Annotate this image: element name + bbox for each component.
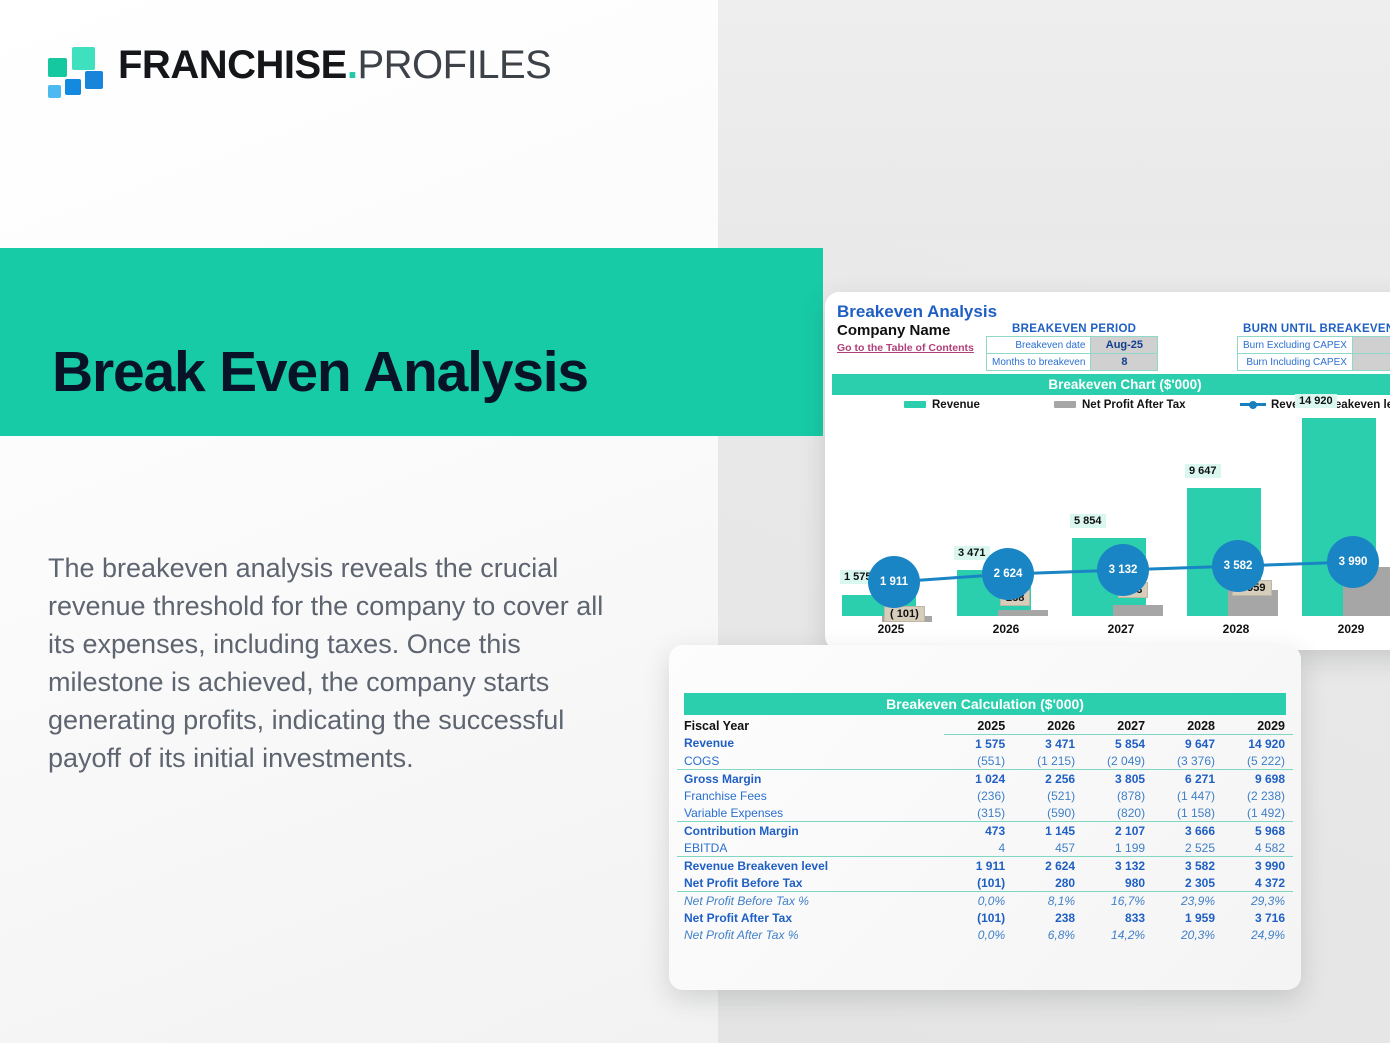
background-panel-top-right: [718, 0, 1390, 240]
cell: (590): [1013, 804, 1083, 822]
column-header-2025: 2025: [944, 717, 1013, 735]
cell: 3 990: [1223, 857, 1293, 875]
cell: 2 525: [1153, 839, 1223, 857]
table-row: Franchise Fees (236) (521) (878) (1 447)…: [677, 787, 1293, 804]
cell: 833: [1083, 909, 1153, 926]
hero-description: The breakeven analysis reveals the cruci…: [48, 549, 628, 777]
cell: 1 199: [1083, 839, 1153, 857]
cell: (315): [944, 804, 1013, 822]
cell: 14,2%: [1083, 926, 1153, 943]
cell: (820): [1083, 804, 1153, 822]
row-label: COGS: [677, 752, 944, 770]
table-header-row: Fiscal Year 2025 2026 2027 2028 2029: [677, 717, 1293, 735]
cell: 9 698: [1223, 770, 1293, 788]
cell: 3 471: [1013, 735, 1083, 753]
breakeven-date-label: Breakeven date: [987, 337, 1091, 354]
table-row: Burn Excluding CAPEX: [1238, 337, 1390, 354]
cell: 29,3%: [1223, 892, 1293, 910]
row-label: Net Profit After Tax %: [677, 926, 944, 943]
cell: 3 132: [1083, 857, 1153, 875]
legend-swatch-net-profit-after-tax: [1054, 401, 1076, 408]
x-tick-2028: 2028: [1199, 622, 1273, 636]
cell: 1 024: [944, 770, 1013, 788]
chart-title: Breakeven Chart ($'000): [832, 374, 1390, 395]
cell: 6,8%: [1013, 926, 1083, 943]
cell: 3 666: [1153, 822, 1223, 840]
cell: 2 624: [1013, 857, 1083, 875]
table-row: Burn Including CAPEX: [1238, 354, 1390, 371]
cell: 5 854: [1083, 735, 1153, 753]
burn-excluding-capex-value[interactable]: [1352, 337, 1390, 354]
cell: 457: [1013, 839, 1083, 857]
table-row: Months to breakeven 8: [987, 354, 1158, 371]
burn-including-capex-label: Burn Including CAPEX: [1238, 354, 1353, 371]
cell: 9 647: [1153, 735, 1223, 753]
table-row: Contribution Margin 473 1 145 2 107 3 66…: [677, 822, 1293, 840]
cell: 1 959: [1153, 909, 1223, 926]
column-header-2028: 2028: [1153, 717, 1223, 735]
row-label: Revenue Breakeven level: [677, 857, 944, 875]
point-breakeven-2027[interactable]: 3 132: [1097, 544, 1149, 596]
burn-excluding-capex-label: Burn Excluding CAPEX: [1238, 337, 1353, 354]
burn-until-breakeven-table: Burn Excluding CAPEX Burn Including CAPE…: [1237, 336, 1390, 371]
chart-title-bar: Breakeven Chart ($'000): [832, 374, 1390, 395]
cell: 980: [1083, 874, 1153, 892]
cell: 8,1%: [1013, 892, 1083, 910]
cell: 3 805: [1083, 770, 1153, 788]
x-tick-2025: 2025: [854, 622, 928, 636]
table-row: EBITDA 4 457 1 199 2 525 4 582: [677, 839, 1293, 857]
cell: 23,9%: [1153, 892, 1223, 910]
point-breakeven-2026[interactable]: 2 624: [982, 548, 1034, 600]
x-tick-2026: 2026: [969, 622, 1043, 636]
cell: 5 968: [1223, 822, 1293, 840]
table-row: COGS (551) (1 215) (2 049) (3 376) (5 22…: [677, 752, 1293, 770]
bar-label-revenue-2029: 14 920: [1295, 394, 1337, 408]
table-row: Net Profit After Tax (101) 238 833 1 959…: [677, 909, 1293, 926]
cell: 3 582: [1153, 857, 1223, 875]
legend-item-revenue[interactable]: Revenue: [904, 399, 980, 411]
breakeven-calculation-card: Breakeven Calculation ($'000) Fiscal Yea…: [669, 645, 1301, 990]
table-row: Variable Expenses (315) (590) (820) (1 1…: [677, 804, 1293, 822]
logo-word-franchise: FRANCHISE: [118, 43, 347, 87]
cell: 473: [944, 822, 1013, 840]
row-label: EBITDA: [677, 839, 944, 857]
cell: (2 238): [1223, 787, 1293, 804]
table-row: Revenue 1 575 3 471 5 854 9 647 14 920: [677, 735, 1293, 753]
row-label: Gross Margin: [677, 770, 944, 788]
legend-label-revenue: Revenue: [932, 399, 980, 411]
row-label: Franchise Fees: [677, 787, 944, 804]
column-header-2026: 2026: [1013, 717, 1083, 735]
breakeven-date-value[interactable]: Aug-25: [1091, 337, 1158, 354]
table-of-contents-link[interactable]: Go to the Table of Contents: [837, 342, 974, 354]
breakeven-period-heading: BREAKEVEN PERIOD: [1012, 323, 1136, 335]
table-row: Breakeven date Aug-25: [987, 337, 1158, 354]
row-label: Net Profit Before Tax %: [677, 892, 944, 910]
cell: 24,9%: [1223, 926, 1293, 943]
breakeven-calculation-table: Fiscal Year 2025 2026 2027 2028 2029 Rev…: [677, 717, 1293, 943]
cell: 1 145: [1013, 822, 1083, 840]
cell: (3 376): [1153, 752, 1223, 770]
months-to-breakeven-label: Months to breakeven: [987, 354, 1091, 371]
logo-wordmark: FRANCHISE.PROFILES: [118, 43, 551, 88]
table-row: Net Profit After Tax % 0,0% 6,8% 14,2% 2…: [677, 926, 1293, 943]
cell: 14 920: [1223, 735, 1293, 753]
cell: 4: [944, 839, 1013, 857]
cell: (5 222): [1223, 752, 1293, 770]
cell: (551): [944, 752, 1013, 770]
sheet-title: Breakeven Analysis: [837, 302, 997, 322]
cell: (236): [944, 787, 1013, 804]
legend-swatch-revenue-breakeven-level: [1240, 400, 1266, 409]
cell: 280: [1013, 874, 1083, 892]
cell: 0,0%: [944, 892, 1013, 910]
chart-plot-area: 1 575 ( 101) 1 911 3 471 238 2 624 5 854…: [832, 420, 1390, 616]
logo-word-profiles: PROFILES: [357, 43, 551, 87]
point-breakeven-2028[interactable]: 3 582: [1212, 540, 1264, 592]
cell: 20,3%: [1153, 926, 1223, 943]
x-tick-2027: 2027: [1084, 622, 1158, 636]
cell: 238: [1013, 909, 1083, 926]
legend-item-net-profit-after-tax[interactable]: Net Profit After Tax: [1054, 399, 1186, 411]
cell: 3 716: [1223, 909, 1293, 926]
x-tick-2029: 2029: [1314, 622, 1388, 636]
cell: (1 158): [1153, 804, 1223, 822]
cell: (1 215): [1013, 752, 1083, 770]
row-label: Contribution Margin: [677, 822, 944, 840]
cell: 1 575: [944, 735, 1013, 753]
cell: 2 256: [1013, 770, 1083, 788]
cell: 6 271: [1153, 770, 1223, 788]
table-row: Net Profit Before Tax (101) 280 980 2 30…: [677, 874, 1293, 892]
brand-logo: FRANCHISE.PROFILES: [48, 45, 548, 103]
calculation-title-bar: Breakeven Calculation ($'000): [684, 693, 1286, 715]
logo-dot: .: [347, 43, 358, 87]
breakeven-period-table: Breakeven date Aug-25 Months to breakeve…: [986, 336, 1158, 371]
cell: 16,7%: [1083, 892, 1153, 910]
cell: 2 305: [1153, 874, 1223, 892]
background-panel-left: [0, 0, 718, 1043]
sheet-company-name: Company Name: [837, 322, 950, 339]
point-breakeven-2025[interactable]: 1 911: [868, 556, 920, 608]
page-title: Break Even Analysis: [52, 343, 792, 403]
legend-label-net-profit-after-tax: Net Profit After Tax: [1082, 399, 1186, 411]
cell: 2 107: [1083, 822, 1153, 840]
cell: 0,0%: [944, 926, 1013, 943]
logo-mark-icon: [48, 47, 110, 99]
breakeven-chart-card: Breakeven Analysis Company Name Go to th…: [825, 292, 1390, 650]
cell: (101): [944, 874, 1013, 892]
cell: (878): [1083, 787, 1153, 804]
calculation-title: Breakeven Calculation ($'000): [684, 693, 1286, 715]
cell: (1 447): [1153, 787, 1223, 804]
burn-including-capex-value[interactable]: [1352, 354, 1390, 371]
column-header-fiscal-year: Fiscal Year: [677, 717, 944, 735]
cell: (521): [1013, 787, 1083, 804]
months-to-breakeven-value[interactable]: 8: [1091, 354, 1158, 371]
column-header-2029: 2029: [1223, 717, 1293, 735]
row-label: Revenue: [677, 735, 944, 753]
cell: 1 911: [944, 857, 1013, 875]
burn-until-breakeven-heading: BURN UNTIL BREAKEVEN: [1243, 323, 1390, 335]
row-label: Net Profit Before Tax: [677, 874, 944, 892]
table-row: Revenue Breakeven level 1 911 2 624 3 13…: [677, 857, 1293, 875]
legend-swatch-revenue: [904, 401, 926, 408]
cell: 4 372: [1223, 874, 1293, 892]
table-row: Gross Margin 1 024 2 256 3 805 6 271 9 6…: [677, 770, 1293, 788]
row-label: Variable Expenses: [677, 804, 944, 822]
column-header-2027: 2027: [1083, 717, 1153, 735]
row-label: Net Profit After Tax: [677, 909, 944, 926]
cell: (101): [944, 909, 1013, 926]
cell: (1 492): [1223, 804, 1293, 822]
cell: 4 582: [1223, 839, 1293, 857]
table-row: Net Profit Before Tax % 0,0% 8,1% 16,7% …: [677, 892, 1293, 910]
point-breakeven-2029[interactable]: 3 990: [1327, 536, 1379, 588]
cell: (2 049): [1083, 752, 1153, 770]
chart-x-axis: 2025 2026 2027 2028 2029: [832, 622, 1390, 642]
